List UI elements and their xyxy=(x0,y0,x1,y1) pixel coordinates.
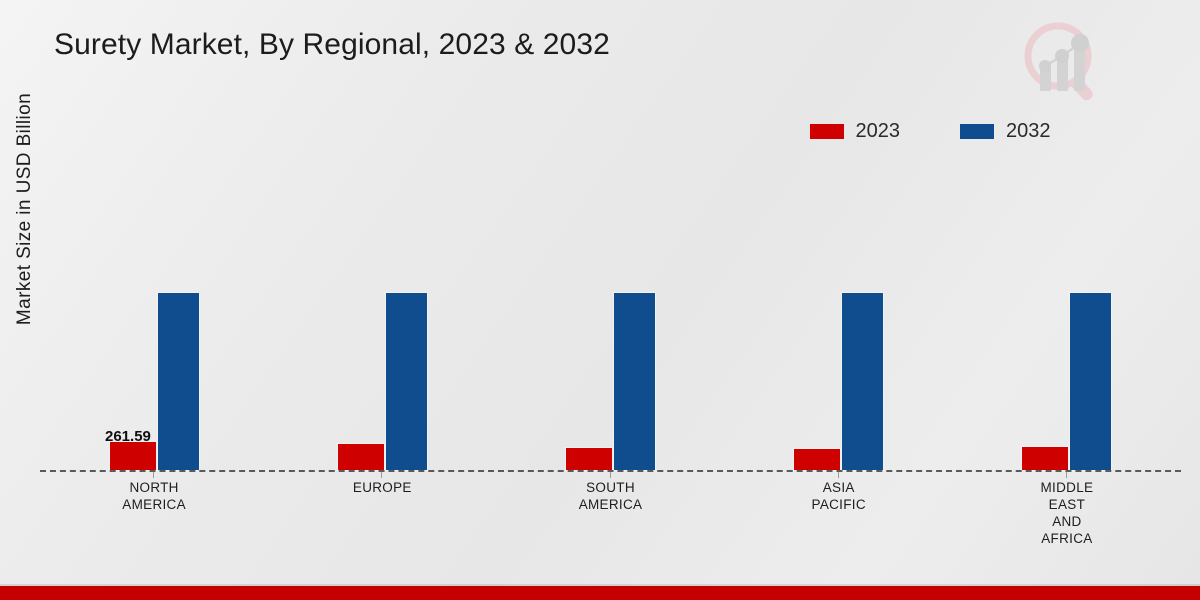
footer-band xyxy=(0,586,1200,600)
bar-group-asia-pacific xyxy=(725,160,953,471)
category-line: EUROPE xyxy=(268,479,496,496)
axis-tick-south-america xyxy=(610,471,611,478)
category-label-middle-east-and-africa: MIDDLE EAST AND AFRICA xyxy=(953,479,1181,547)
category-line: NORTH xyxy=(40,479,268,496)
chart-canvas: Surety Market, By Regional, 2023 & 2032 … xyxy=(0,0,1200,600)
x-axis-baseline xyxy=(40,470,1181,472)
bar-groups: 261.59 xyxy=(40,160,1181,471)
bar-2032-north-america[interactable] xyxy=(157,292,200,471)
y-axis-title: Market Size in USD Billion xyxy=(14,44,36,374)
legend-swatch-2023 xyxy=(810,124,844,139)
bar-group-south-america xyxy=(496,160,724,471)
bar-2023-asia-pacific[interactable] xyxy=(793,448,841,471)
chart-legend: 2023 2032 xyxy=(0,120,1200,143)
category-line: AND xyxy=(953,513,1181,530)
watermark-logo-icon xyxy=(1014,14,1110,110)
bar-2032-asia-pacific[interactable] xyxy=(841,292,884,471)
bar-group-north-america: 261.59 xyxy=(40,160,268,471)
category-line: AMERICA xyxy=(40,496,268,513)
bar-2032-south-america[interactable] xyxy=(613,292,656,471)
category-label-europe: EUROPE xyxy=(268,479,496,547)
value-label-2023-north-america: 261.59 xyxy=(105,428,151,445)
bar-group-europe xyxy=(268,160,496,471)
bar-2032-europe[interactable] xyxy=(385,292,428,471)
category-label-asia-pacific: ASIA PACIFIC xyxy=(725,479,953,547)
category-line: PACIFIC xyxy=(725,496,953,513)
bar-group-middle-east-and-africa xyxy=(953,160,1181,471)
axis-tick-north-america xyxy=(153,471,154,478)
category-line: SOUTH xyxy=(496,479,724,496)
legend-label-2023: 2023 xyxy=(856,120,901,143)
axis-tick-middle-east-and-africa xyxy=(1066,471,1067,478)
category-line: EAST xyxy=(953,496,1181,513)
legend-item-2023[interactable]: 2023 xyxy=(810,120,901,143)
category-label-north-america: NORTH AMERICA xyxy=(40,479,268,547)
bar-2032-middle-east-and-africa[interactable] xyxy=(1069,292,1112,471)
category-line: AMERICA xyxy=(496,496,724,513)
bar-2023-south-america[interactable] xyxy=(565,447,613,471)
axis-tick-europe xyxy=(381,471,382,478)
chart-title: Surety Market, By Regional, 2023 & 2032 xyxy=(54,28,610,62)
x-axis-category-labels: NORTH AMERICA EUROPE SOUTH AMERICA ASIA … xyxy=(40,479,1181,547)
category-line: AFRICA xyxy=(953,530,1181,547)
legend-label-2032: 2032 xyxy=(1006,120,1051,143)
legend-item-2032[interactable]: 2032 xyxy=(960,120,1051,143)
category-line: ASIA xyxy=(725,479,953,496)
bar-2023-north-america[interactable] xyxy=(109,441,157,471)
bar-2023-europe[interactable] xyxy=(337,443,385,471)
category-line: MIDDLE xyxy=(953,479,1181,496)
axis-tick-asia-pacific xyxy=(838,471,839,478)
bar-2023-middle-east-and-africa[interactable] xyxy=(1021,446,1069,471)
legend-swatch-2032 xyxy=(960,124,994,139)
category-label-south-america: SOUTH AMERICA xyxy=(496,479,724,547)
